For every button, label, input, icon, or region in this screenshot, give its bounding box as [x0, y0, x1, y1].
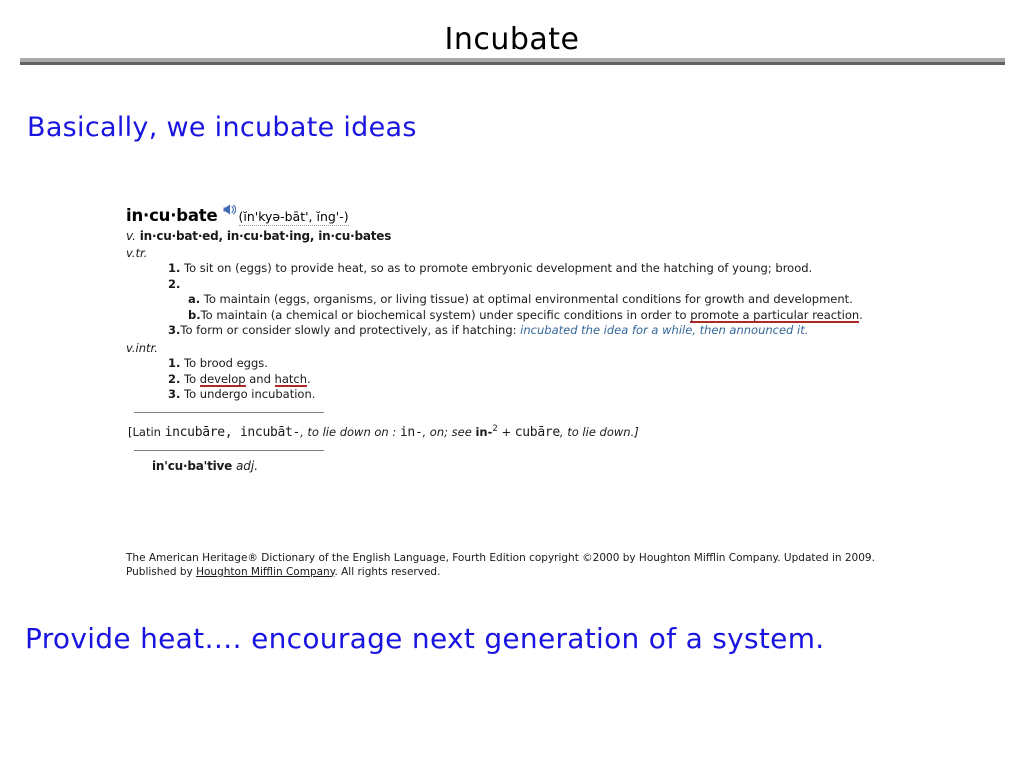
inflection-forms: in·cu·bat·ed, in·cu·bat·ing, in·cu·bates — [140, 229, 391, 243]
etymology-open: [Latin — [128, 425, 165, 439]
etymology-latin-forms: incubāre, incubāt- — [165, 425, 300, 440]
speaker-icon[interactable] — [223, 202, 236, 221]
subsense-text-after: . — [859, 308, 863, 322]
sense-item: 2. To develop and hatch. — [146, 372, 916, 388]
sense-item: 2. — [146, 277, 916, 293]
red-underline-develop: develop — [200, 372, 246, 387]
inflections-line: v. in·cu·bat·ed, in·cu·bat·ing, in·cu·ba… — [126, 228, 916, 244]
transitive-sense-list: 1. To sit on (eggs) to provide heat, so … — [126, 261, 916, 339]
etymology-gloss-3: , to lie down.] — [560, 425, 639, 439]
subsense-number: b. — [188, 308, 201, 322]
publisher-link[interactable]: Houghton Mifflin Company — [196, 566, 334, 578]
sense-number: 1. — [168, 261, 180, 275]
title-divider — [20, 58, 1005, 65]
copyright-line-1: The American Heritage® Dictionary of the… — [126, 552, 926, 566]
sense-item: 3. To undergo incubation. — [146, 387, 916, 403]
inflection-pos: v. — [126, 229, 136, 243]
sense-item: 1. To sit on (eggs) to provide heat, so … — [146, 261, 916, 277]
etymology-plus: + — [498, 425, 515, 439]
sense-text: To undergo incubation. — [184, 387, 315, 401]
heading-provide-heat: Provide heat…. encourage next generation… — [25, 622, 824, 655]
derivative-line: in'cu·ba'tive adj. — [152, 459, 916, 474]
slide-title: Incubate — [0, 22, 1024, 58]
subsense-text: To maintain (eggs, organisms, or living … — [204, 292, 853, 306]
subsense-number: a. — [188, 292, 200, 306]
sense-number: 2. — [168, 277, 180, 291]
red-underline-promote-reaction: promote a particular reaction — [690, 308, 859, 323]
copyright-line-2: Published by Houghton Mifflin Company. A… — [126, 566, 926, 580]
pos-label-intransitive: v.intr. — [126, 341, 916, 356]
sense-item: 3.To form or consider slowly and protect… — [146, 323, 916, 339]
sense-number: 1. — [168, 356, 180, 370]
headword: in·cu·bate — [126, 206, 218, 225]
sense-text: To form or consider slowly and protectiv… — [180, 323, 520, 337]
sense-example: incubated the idea for a while, then ann… — [520, 323, 808, 337]
red-underline-hatch: hatch — [275, 372, 307, 387]
sense-item: 1. To brood eggs. — [146, 356, 916, 372]
sense-number: 3. — [168, 323, 180, 337]
dictionary-entry: in·cu·bate(ĭn'kyə-bāt', ĭng'-) v. in·cu·… — [126, 202, 916, 474]
sense-number: 2. — [168, 372, 180, 386]
sense-text-before: To — [184, 372, 200, 386]
intransitive-sense-list: 1. To brood eggs. 2. To develop and hatc… — [126, 356, 916, 403]
etymology-gloss-2: , on; see — [423, 425, 476, 439]
heading-incubate-ideas: Basically, we incubate ideas — [27, 112, 417, 143]
subsense-item: b.To maintain (a chemical or biochemical… — [126, 308, 916, 324]
pos-label-transitive: v.tr. — [126, 246, 916, 261]
sense-text: To brood eggs. — [184, 356, 268, 370]
pronunciation: (ĭn'kyə-bāt', ĭng'-) — [239, 209, 349, 226]
subsense-text-before: To maintain (a chemical or biochemical s… — [201, 308, 691, 322]
etymology-latin-in: in- — [400, 425, 423, 440]
derivative-pos: adj. — [236, 459, 258, 473]
subsense-list: a. To maintain (eggs, organisms, or livi… — [126, 292, 916, 323]
etymology-gloss-1: , to lie down on : — [300, 425, 400, 439]
etymology-divider-bottom — [134, 450, 324, 451]
etymology-root-bold: in- — [475, 425, 492, 439]
sense-text: To sit on (eggs) to provide heat, so as … — [184, 261, 812, 275]
etymology: [Latin incubāre, incubāt-, to lie down o… — [128, 421, 916, 441]
derivative-word: in'cu·ba'tive — [152, 459, 232, 473]
headword-line: in·cu·bate(ĭn'kyə-bāt', ĭng'-) — [126, 202, 916, 227]
rights-text: . All rights reserved. — [334, 566, 440, 578]
etymology-latin-cubare: cubāre — [515, 425, 560, 440]
subsense-item: a. To maintain (eggs, organisms, or livi… — [126, 292, 916, 308]
etymology-divider-top — [134, 412, 324, 413]
publisher-prefix: Published by — [126, 566, 196, 578]
sense-text-mid: and — [246, 372, 275, 386]
sense-number: 3. — [168, 387, 180, 401]
sense-text-after: . — [307, 372, 311, 386]
copyright-block: The American Heritage® Dictionary of the… — [126, 552, 926, 579]
